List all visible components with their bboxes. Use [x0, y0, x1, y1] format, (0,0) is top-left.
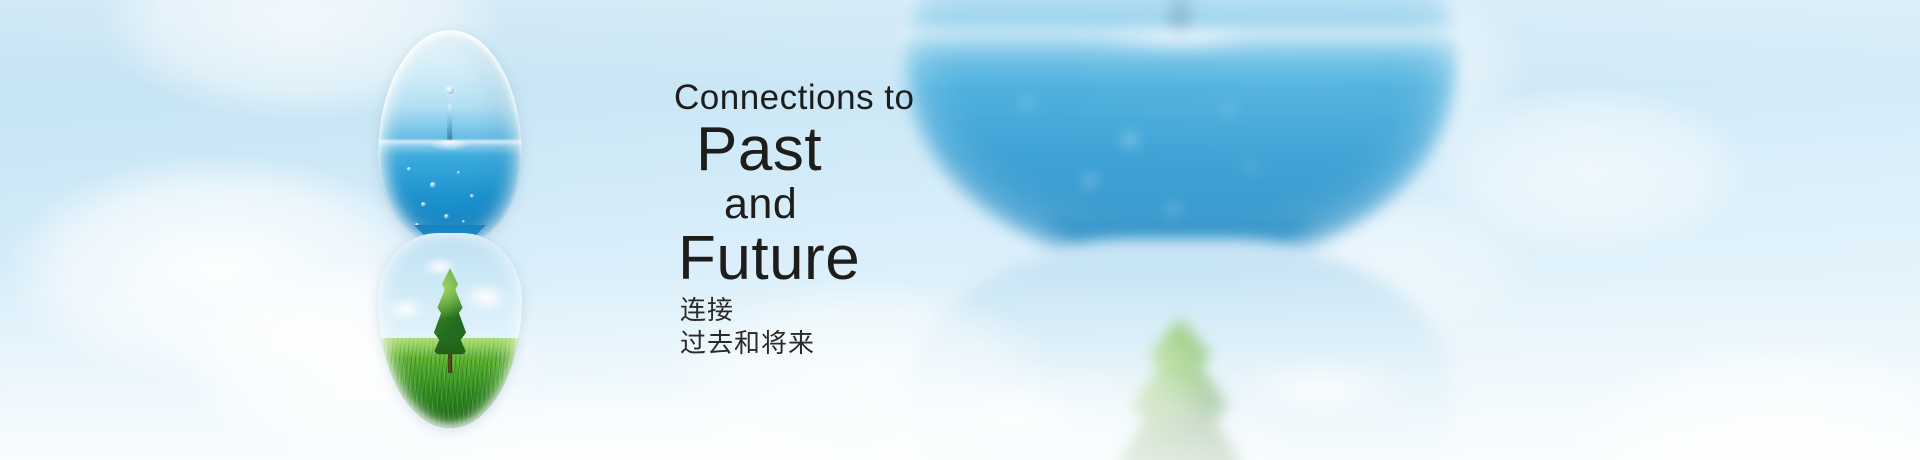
- cloud-decoration: [260, 350, 960, 460]
- water-splash-base: [1107, 28, 1253, 52]
- headline-and: and: [660, 183, 1080, 226]
- headline-kicker: Connections to: [660, 80, 1080, 115]
- cloud-decoration: [120, 230, 600, 460]
- water-surface-line: [900, 28, 1460, 62]
- water-splash-base: [431, 140, 468, 151]
- headline-past: Past: [660, 119, 1080, 181]
- subtitle-chinese: 连接 过去和将来: [660, 294, 1080, 359]
- cloud-decoration: [1500, 300, 1920, 460]
- headline-future: Future: [660, 228, 1080, 290]
- water-droplet-icon: [446, 86, 454, 94]
- banner-hero: Connections to Past and Future 连接 过去和将来: [0, 0, 1920, 460]
- subtitle-chinese-line1: 连接: [680, 294, 1080, 327]
- hourglass-top-bulb: [378, 30, 522, 245]
- subtitle-chinese-line2: 过去和将来: [680, 327, 1080, 360]
- hourglass-graphic: [378, 30, 522, 428]
- water-splash-column: [1169, 0, 1190, 42]
- water-splash-column: [447, 103, 452, 146]
- hourglass-bottom-bulb: [378, 233, 522, 428]
- headline-block: Connections to Past and Future 连接 过去和将来: [660, 80, 1080, 359]
- water-surface-line: [378, 140, 522, 155]
